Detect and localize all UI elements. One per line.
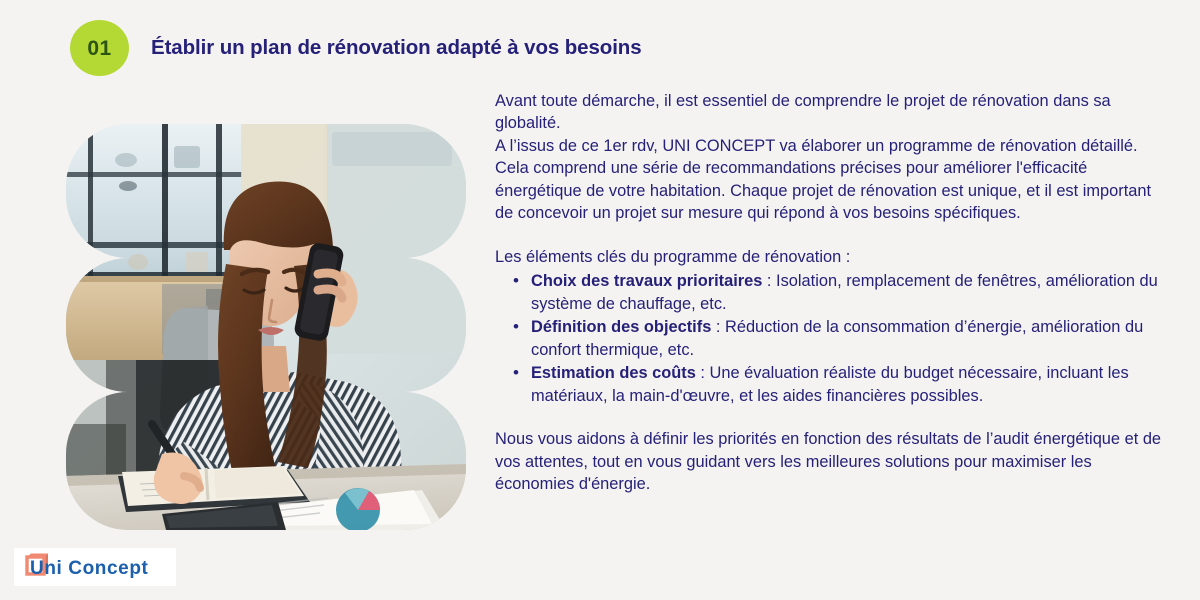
list-item: Estimation des coûts : Une évaluation ré… (495, 362, 1167, 407)
content-spacer-2 (495, 408, 1167, 428)
key-elements-list: Choix des travaux prioritaires : Isolati… (495, 270, 1167, 407)
brand-logo[interactable]: Uni Concept (14, 548, 176, 586)
key-elements-intro: Les éléments clés du programme de rénova… (495, 246, 1167, 268)
step-number-label: 01 (87, 38, 111, 59)
slide-header: 01 Établir un plan de rénovation adapté … (70, 20, 642, 76)
step-number-badge: 01 (70, 20, 129, 76)
intro-paragraph-2: A l’issus de ce 1er rdv, UNI CONCEPT va … (495, 135, 1167, 225)
uni-concept-logo-mark: Uni Concept (18, 552, 174, 582)
photo-figure (66, 124, 466, 530)
page-title: Établir un plan de rénovation adapté à v… (151, 36, 642, 60)
closing-paragraph: Nous vous aidons à définir les priorités… (495, 428, 1167, 495)
bullet-lead-label: Estimation des coûts (531, 364, 696, 382)
list-item: Définition des objectifs : Réduction de … (495, 316, 1167, 361)
bullet-lead-label: Choix des travaux prioritaires (531, 272, 762, 290)
logo-wordmark: Uni Concept (30, 558, 149, 579)
bullet-lead-label: Définition des objectifs (531, 318, 711, 336)
slide-root: 01 Établir un plan de rénovation adapté … (0, 0, 1200, 600)
content-spacer-1 (495, 225, 1167, 246)
list-item: Choix des travaux prioritaires : Isolati… (495, 270, 1167, 315)
intro-paragraph-1: Avant toute démarche, il est essentiel d… (495, 90, 1167, 135)
photo-illustration (66, 124, 466, 530)
body-content: Avant toute démarche, il est essentiel d… (495, 90, 1167, 496)
